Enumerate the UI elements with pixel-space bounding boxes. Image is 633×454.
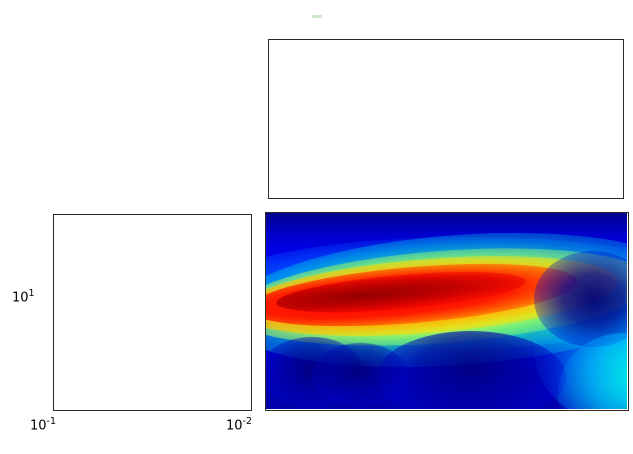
wavelet-heatmap [266, 213, 627, 409]
figure-title-container [0, 3, 633, 22]
lightcurve-axes [268, 39, 624, 199]
lightcurve-plot-area [269, 40, 622, 197]
wavelet-top-dark-band [266, 213, 627, 261]
page-title [312, 15, 322, 18]
power-xtick-label-left: 10-1 [30, 416, 56, 433]
wavelet-power-axes [265, 212, 629, 411]
global-power-spectrum-curve [54, 215, 250, 409]
wavelet-dark-pocket-bottom-mid [312, 343, 408, 405]
period-ytick-label-10: 101 [12, 288, 35, 305]
global-power-spectrum-axes [53, 214, 252, 411]
power-xtick-label-right: 10-2 [226, 416, 252, 433]
global-power-spectrum-plot-area [54, 215, 250, 409]
